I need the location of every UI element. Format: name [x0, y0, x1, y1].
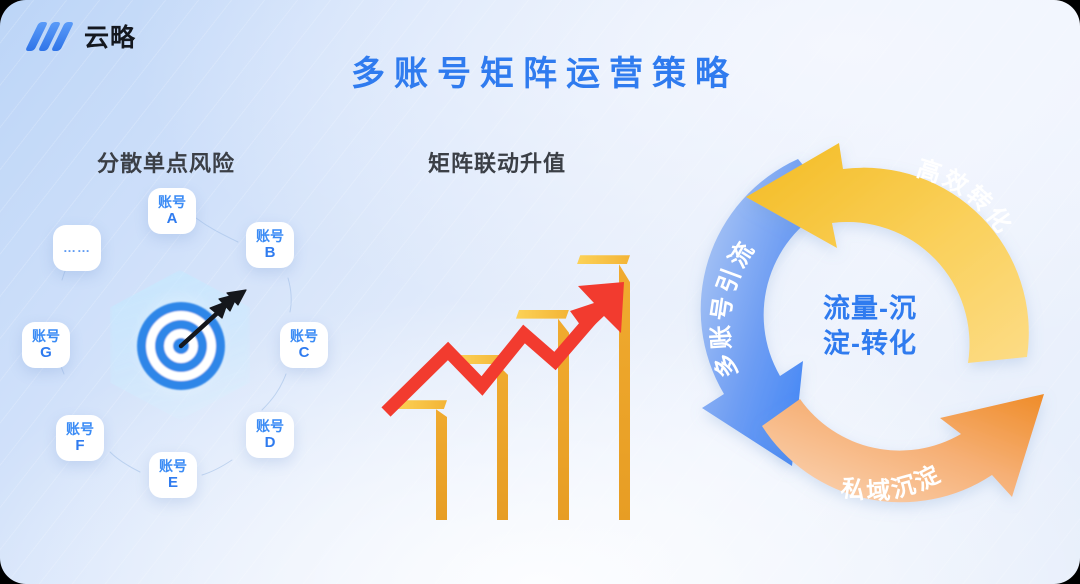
- infographic-canvas: 云略 多账号矩阵运营策略 分散单点风险 矩阵联动升值: [0, 0, 1080, 584]
- account-card-label: 账号: [158, 195, 186, 210]
- account-card-d[interactable]: 账号D: [246, 412, 294, 458]
- account-card-label: 账号: [256, 419, 284, 434]
- growth-bar-chart: [372, 190, 650, 520]
- account-card-label: 账号: [66, 422, 94, 437]
- account-card-id: B: [265, 245, 276, 261]
- account-card-id: F: [75, 438, 84, 454]
- account-card-id: C: [299, 345, 310, 361]
- account-card-e[interactable]: 账号E: [149, 452, 197, 498]
- account-card-id: G: [40, 345, 52, 361]
- account-card-label: 账号: [290, 329, 318, 344]
- account-card-more[interactable]: ……: [53, 225, 101, 271]
- account-card-label: 账号: [32, 329, 60, 344]
- trend-arrow-icon: [372, 190, 650, 520]
- account-card-id: A: [167, 211, 178, 227]
- account-card-label: ……: [63, 241, 91, 255]
- account-card-f[interactable]: 账号F: [56, 415, 104, 461]
- cycle-diagram: 多账号引流 高效转化 私域沉淀 流量-沉 淀-转化: [672, 126, 1068, 526]
- account-card-label: 账号: [256, 229, 284, 244]
- account-card-id: D: [265, 435, 276, 451]
- cycle-center-label: 流量-沉 淀-转化: [823, 291, 917, 360]
- cycle-center-line1: 流量-沉: [823, 291, 917, 326]
- account-card-g[interactable]: 账号G: [22, 322, 70, 368]
- account-card-id: E: [168, 475, 178, 491]
- account-card-a[interactable]: 账号A: [148, 188, 196, 234]
- cycle-center-line2: 淀-转化: [823, 326, 917, 361]
- account-card-label: 账号: [159, 459, 187, 474]
- account-card-b[interactable]: 账号B: [246, 222, 294, 268]
- account-card-c[interactable]: 账号C: [280, 322, 328, 368]
- section-heading-growth: 矩阵联动升值: [428, 146, 566, 178]
- page-title: 多账号矩阵运营策略: [0, 46, 1080, 95]
- dart-arrow-icon: [150, 285, 250, 385]
- account-cluster: 账号A账号B账号C账号D账号E账号F账号G……: [0, 160, 360, 530]
